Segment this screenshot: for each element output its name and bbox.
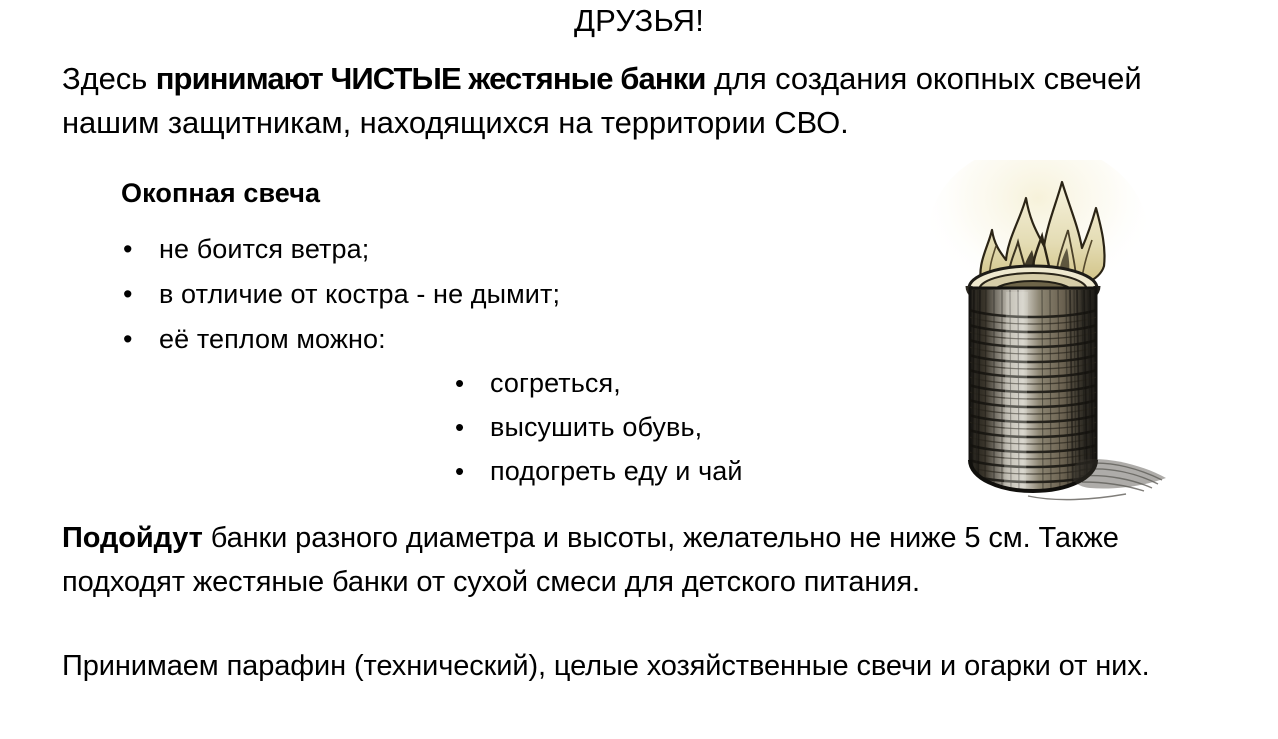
list-item: • её теплом можно: xyxy=(121,318,881,363)
intro-text-lead: Здесь xyxy=(62,61,156,96)
sublist-item-label: согреться, xyxy=(490,363,621,404)
footer-emphasis: Подойдут xyxy=(62,522,203,554)
trench-candle-icon xyxy=(930,160,1215,505)
footer-paragraph-accepted-cans: Подойдут банки разного диаметра и высоты… xyxy=(62,516,1227,604)
list-item-label: не боится ветра; xyxy=(159,228,369,270)
sublist-item-label: высушить обувь, xyxy=(490,407,702,448)
bullet-icon: • xyxy=(121,228,159,270)
bullet-icon: • xyxy=(121,318,159,360)
list-item-label: её теплом можно: xyxy=(159,318,386,360)
page-title: ДРУЗЬЯ! xyxy=(0,2,1278,40)
list-item: • в отличие от костра - не дымит; xyxy=(121,273,881,318)
trench-candle-illustration xyxy=(930,160,1215,505)
footer-paragraph-paraffin: Принимаем парафин (технический), целые х… xyxy=(62,644,1227,688)
bullet-icon: • xyxy=(455,363,490,404)
section-heading-trench-candle: Окопная свеча xyxy=(121,176,320,210)
list-item-label: в отличие от костра - не дымит; xyxy=(159,273,560,315)
poster-canvas: ДРУЗЬЯ! Здесь принимают ЧИСТЫЕ жестяные … xyxy=(0,0,1278,739)
footer-text: банки разного диаметра и высоты, желател… xyxy=(62,522,1119,598)
bullet-icon: • xyxy=(121,273,159,315)
intro-text-emphasis: принимают ЧИСТЫЕ жестяные банки xyxy=(156,61,706,96)
bullet-icon: • xyxy=(455,451,490,492)
bullet-icon: • xyxy=(455,407,490,448)
intro-paragraph: Здесь принимают ЧИСТЫЕ жестяные банки дл… xyxy=(62,57,1232,145)
feature-list: • не боится ветра; • в отличие от костра… xyxy=(121,228,881,363)
sublist-item-label: подогреть еду и чай xyxy=(490,451,743,492)
list-item: • не боится ветра; xyxy=(121,228,881,273)
